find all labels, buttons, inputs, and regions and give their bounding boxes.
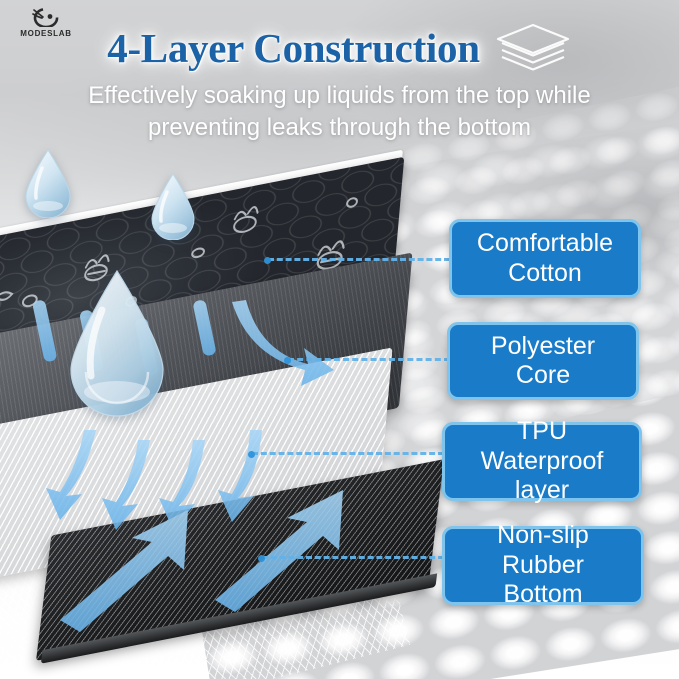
callout-polyester-core-line-1: Polyester: [491, 332, 595, 362]
callout-comfortable-cotton-line-1: Comfortable: [477, 229, 613, 259]
callout-polyester-core-line-2: Core: [491, 361, 595, 391]
water-droplet-2: [148, 172, 198, 240]
callout-non-slip-rubber-bottom[interactable]: Non-slip Rubber Bottom: [442, 526, 644, 605]
callout-non-slip-rubber-bottom-line-2: Bottom: [453, 580, 633, 610]
water-droplet-1: [22, 148, 74, 218]
callout-tpu-waterproof-layer-line-1: TPU Waterproof: [453, 417, 631, 476]
page-title: 4-Layer Construction: [107, 24, 479, 72]
page-subtitle: Effectively soaking up liquids from the …: [0, 80, 679, 143]
page-subtitle-line-1: Effectively soaking up liquids from the …: [0, 80, 679, 112]
water-droplet-3: [62, 268, 172, 418]
callout-tpu-waterproof-layer[interactable]: TPU Waterproof layer: [442, 422, 642, 501]
connector-line-tpu: [252, 452, 444, 455]
callout-polyester-core[interactable]: Polyester Core: [447, 322, 639, 400]
page-title-row: 4-Layer Construction: [0, 22, 679, 74]
infographic-canvas: MODESLAB 4-Layer Construction Effectivel…: [0, 0, 679, 679]
connector-line-polyester: [288, 358, 450, 361]
connector-line-cotton: [268, 258, 450, 261]
callout-tpu-waterproof-layer-line-2: layer: [453, 476, 631, 506]
layered-sheets-icon: [494, 22, 572, 74]
callout-non-slip-rubber-bottom-line-1: Non-slip Rubber: [453, 521, 633, 580]
callout-comfortable-cotton-line-2: Cotton: [477, 259, 613, 289]
page-subtitle-line-2: preventing leaks through the bottom: [0, 112, 679, 144]
callout-comfortable-cotton[interactable]: Comfortable Cotton: [449, 219, 641, 298]
connector-line-rubber: [262, 556, 444, 559]
